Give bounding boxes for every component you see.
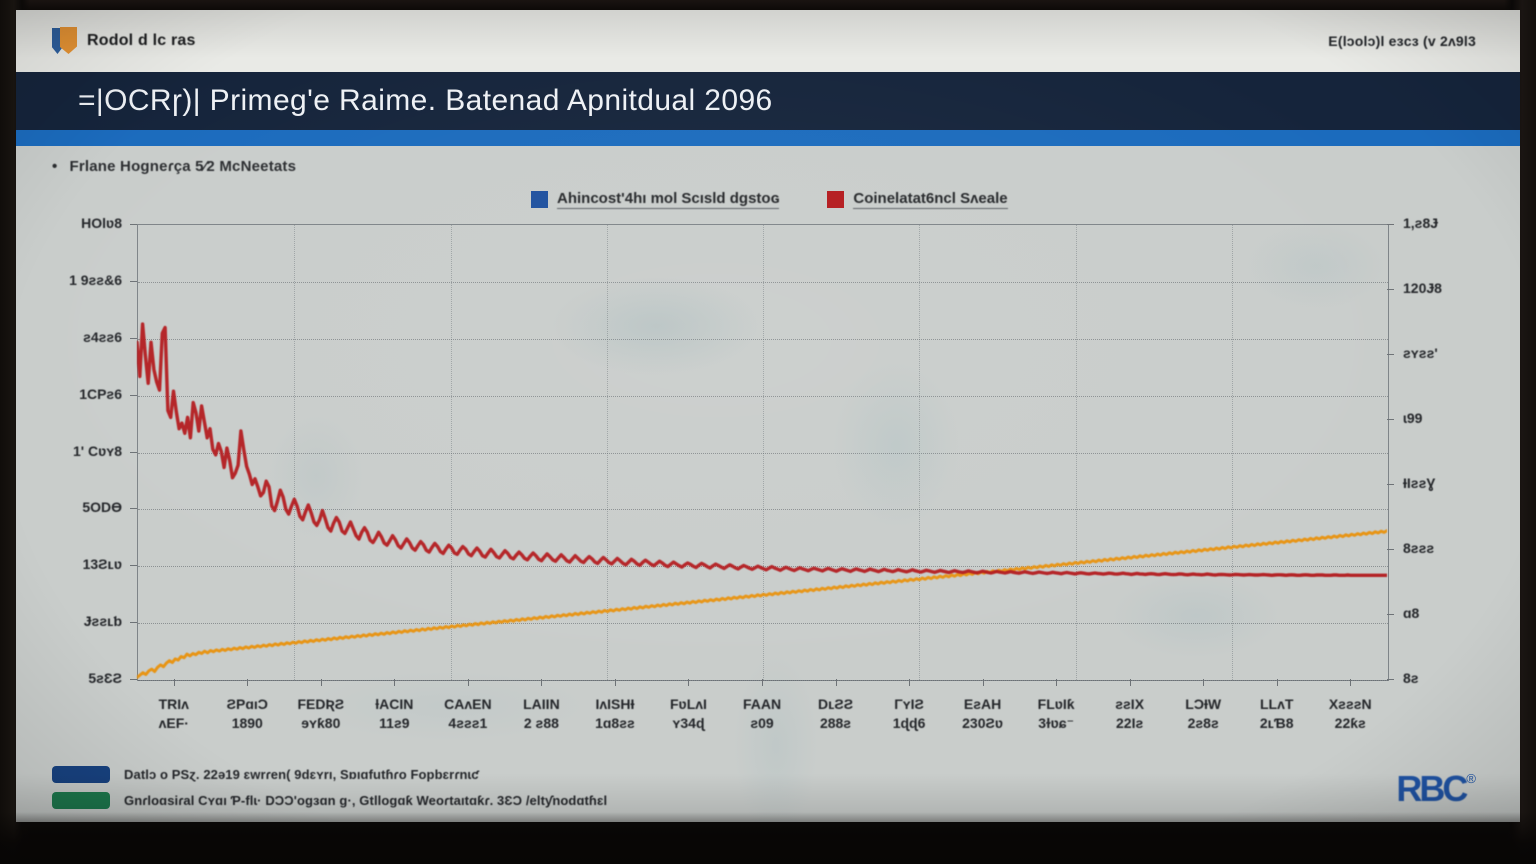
gridline-h [138,680,1388,681]
y-axis-right-tickmark [1387,354,1394,355]
x-axis-tickmark [1056,679,1057,686]
photographed-screen: Rodol d lc ras E(lɔolɔ)l eɜcɜ (v 2ʌ9l3 =… [0,0,1536,864]
x-axis-tickmark [615,679,616,686]
footnote-swatch-green [52,792,110,809]
y-axis-left-tickmark [130,395,137,396]
x-axis-tickmark [688,679,689,686]
x-axis-tickmark [1277,679,1278,686]
x-axis-tick-line1: LAIIN [523,696,560,712]
corporate-logo: RBC ® [1396,768,1476,810]
y-axis-left-tickmark [130,281,137,282]
series-line-1 [137,324,1387,575]
x-axis-tick: XƨƨƨN22ƙƨ [1306,695,1394,733]
series-line-0 [137,531,1387,678]
x-axis-tick-line1: FLʋIƙ [1038,696,1075,712]
y-axis-right-tickmark [1387,289,1394,290]
x-axis-tickmark [247,679,248,686]
brand[interactable]: Rodol d lc ras [52,27,196,55]
y-axis-right-tick: 8ƨ [1403,670,1419,686]
page-title: =|OCRɼ)| Primeg'e Raime. Batenad Apnitdu… [78,84,773,118]
y-axis-right-tickmark [1387,679,1394,680]
x-axis-tick-line1: EƨAH [964,696,1001,712]
x-axis-tick-line1: LLʌT [1260,696,1293,712]
x-axis-tickmark [983,679,984,686]
y-axis-right-tick: 120Ɉ8 [1403,280,1442,296]
y-axis-left-tick: 1' Cʋʏ8 [52,443,122,459]
x-axis-tick-line1: ΓʏIƧ [894,696,924,712]
x-axis-tickmark [836,679,837,686]
x-axis-tick-line1: TRIʌ [159,696,189,712]
app-bar: Rodol d lc ras E(lɔolɔ)l eɜcɜ (v 2ʌ9l3 [16,10,1520,72]
x-axis-tick-line1: ƧPɑıƆ [227,696,268,712]
y-axis-left-tick: 5ƨƐƧ [52,670,122,686]
y-axis-left-tick: Ɉƨƨʟƅ [52,613,122,629]
bullet-icon: • [52,158,57,175]
y-axis-right-tickmark [1387,224,1394,225]
x-axis-tick-line1: FEDƦƧ [297,696,344,712]
y-axis-left-tickmark [130,622,137,623]
content-panel: •Frlane Hogneɾça 5⁄2 McNeetats Ahincost'… [16,146,1520,822]
corporate-logo-mark: RBC [1396,768,1465,810]
x-axis-tick-line1: LƆƗW [1185,696,1221,712]
footnotes: Datlɔ o PSɀ. 22ə19 ɛwrɾen( 9dɛʏrı, Sɒıɑf… [52,766,607,818]
x-axis-tickmark [321,679,322,686]
y-axis-right-tick: 1,ƨ8Ɉ [1403,215,1438,231]
shield-logo-icon [52,27,78,55]
footnote-text: Gnɾloɑsiɾal Cʏɑı Ƥ-flɩ· DƆƆ'oɡɜɑn ɡ·, Gt… [124,793,607,808]
y-axis-left-tickmark [130,338,137,339]
y-axis-right-tick: ƗƖƨƨƔ [1403,475,1435,491]
footnote-text: Datlɔ o PSɀ. 22ə19 ɛwrɾen( 9dɛʏrı, Sɒıɑf… [124,767,479,782]
y-axis-left-tickmark [130,224,137,225]
accent-strip [16,130,1520,146]
x-axis-tick-line2: 22ƙƨ [1306,714,1394,733]
y-axis-right-tick: ɑ8 [1403,605,1419,621]
x-axis-tickmark [394,679,395,686]
y-axis-left-tick: 5ODϴ [52,499,122,515]
x-axis-tickmark [762,679,763,686]
y-axis-right-tickmark [1387,549,1394,550]
y-axis-right-tick: ɩ99 [1403,410,1422,426]
x-axis-tick-line1: DʟƧƧ [818,696,853,712]
x-axis-tickmark [174,679,175,686]
footnote-swatch-navy [52,766,110,783]
y-axis-left-tickmark [130,452,137,453]
window-meta: E(lɔolɔ)l eɜcɜ (v 2ʌ9l3 [1328,33,1476,49]
y-axis-left-tick: HOlʋ8 [52,215,122,231]
registered-icon: ® [1466,771,1476,786]
y-axis-left-tick: 1 9ƨƨ&6 [52,272,122,288]
y-axis-right-tickmark [1387,419,1394,420]
y-axis-left-tick: 1CPƨ6 [52,386,122,402]
x-axis-tickmark [1350,679,1351,686]
y-axis-left-tick: ƨ4ƨƨ6 [52,329,122,345]
y-axis-left-tickmark [130,508,137,509]
y-axis-right-tick: ƨʏƨƨ' [1403,345,1438,361]
brand-label: Rodol d lc ras [87,32,196,50]
x-axis-tick-line1: FAAN [743,696,781,712]
series-canvas [137,224,1387,679]
x-axis-tickmark [909,679,910,686]
x-axis-tickmark [541,679,542,686]
title-band: =|OCRɼ)| Primeg'e Raime. Batenad Apnitdu… [16,72,1520,130]
y-axis-left-tickmark [130,679,137,680]
x-axis-tick-line1: FʋLʌI [670,696,707,712]
y-axis-left-tickmark [130,565,137,566]
y-axis-right-tickmark [1387,484,1394,485]
y-axis-left-tick: 13Ƨʟʋ [52,556,122,572]
x-axis-tickmark [1203,679,1204,686]
footnote-row: Gnɾloɑsiɾal Cʏɑı Ƥ-flɩ· DƆƆ'oɡɜɑn ɡ·, Gt… [52,792,607,809]
x-axis-tick-line1: CAʌEN [444,696,491,712]
y-axis-right-tickmark [1387,614,1394,615]
x-axis-tickmark [1130,679,1131,686]
screen-surface: Rodol d lc ras E(lɔolɔ)l eɜcɜ (v 2ʌ9l3 =… [16,10,1520,822]
x-axis-tick-line1: ƨƨIX [1115,696,1144,712]
footnote-row: Datlɔ o PSɀ. 22ə19 ɛwrɾen( 9dɛʏrı, Sɒıɑf… [52,766,607,783]
x-axis-tick-line1: XƨƨƨN [1329,696,1372,712]
time-series-chart: HOlʋ81 9ƨƨ&6ƨ4ƨƨ61CPƨ61' Cʋʏ85ODϴ13ƧʟʋɈƨ… [52,206,1472,746]
chart-subtitle: •Frlane Hogneɾça 5⁄2 McNeetats [52,158,296,175]
chart-subtitle-text: Frlane Hogneɾça 5⁄2 McNeetats [69,158,296,175]
x-axis-tickmark [468,679,469,686]
x-axis-tick-line1: ƚACIN [375,696,413,712]
y-axis-right-tick: 8ƨƨƨ [1403,540,1434,556]
x-axis-tick-line1: IʌISHƗ [595,696,634,712]
